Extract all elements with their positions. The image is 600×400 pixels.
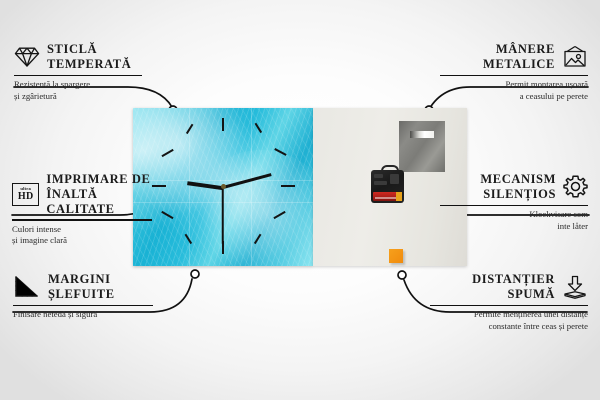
callout-metal-handles: MÂNERE METALICE Permit montarea ușoară a… xyxy=(440,42,588,102)
callout-sub-line2: inte låter xyxy=(440,221,588,233)
callout-title-line1: MÂNERE xyxy=(483,42,555,57)
callout-title-line1: MECANISM xyxy=(480,172,556,187)
movement-detail-1 xyxy=(374,174,383,178)
wire-dot-polished-edges xyxy=(191,270,199,278)
diamond-icon xyxy=(14,46,40,68)
clock-tick-3 xyxy=(281,185,295,187)
callout-title-line1: IMPRIMARE DE xyxy=(46,172,162,187)
press-down-icon xyxy=(562,275,588,299)
callout-silent-mechanism: MECANISM SILENȚIOS Klockvisare som inte … xyxy=(440,172,588,232)
callout-sub-line2: și zgârietură xyxy=(14,91,154,103)
callout-title-line2: SILENȚIOS xyxy=(480,187,556,202)
movement-detail-2 xyxy=(374,181,387,185)
glass-reflection-v2 xyxy=(251,108,252,266)
callout-title-line1: DISTANȚIER xyxy=(472,272,555,287)
callout-title-line1: STICLĂ xyxy=(47,42,131,57)
ultra-hd-label: HD xyxy=(18,192,34,202)
ultra-hd-icon: ultra HD xyxy=(12,183,39,206)
callout-title-line2: METALICE xyxy=(483,57,555,72)
callout-title-line1: MARGINI xyxy=(48,272,115,287)
callout-polished-edges: MARGINI ȘLEFUITE Finisare netedă și sigu… xyxy=(13,272,163,321)
callout-title-line2: SPUMĂ xyxy=(472,287,555,302)
foam-spacer xyxy=(389,249,403,263)
callout-sub-line2: constante între ceas și perete xyxy=(430,321,588,333)
callout-hq-print: ultra HD IMPRIMARE DE ÎNALTĂ CALITATE Cu… xyxy=(12,172,162,247)
callout-sub-line1: Rezistentă la spargere xyxy=(14,79,154,91)
callout-sub-line1: Permite menținerea unei distanțe xyxy=(430,309,588,321)
infographic-canvas: STICLĂ TEMPERATĂ Rezistentă la spargere … xyxy=(0,0,600,400)
movement-detail-3 xyxy=(390,174,399,184)
callout-rule xyxy=(14,75,142,77)
gear-icon xyxy=(563,174,588,199)
metal-hanger-plate xyxy=(399,121,445,172)
callout-sub-line2: a ceasului pe perete xyxy=(440,91,588,103)
callout-rule xyxy=(12,219,152,221)
picture-hanger-icon xyxy=(562,45,588,68)
battery-label xyxy=(375,197,396,199)
callout-title-line2: ÎNALTĂ CALITATE xyxy=(46,187,162,217)
callout-rule xyxy=(430,305,588,307)
callout-rule xyxy=(440,205,588,207)
callout-sub-line1: Culori intense xyxy=(12,224,162,236)
clock-second-hand xyxy=(222,187,224,244)
callout-title-line2: ȘLEFUITE xyxy=(48,287,115,302)
clock-center-cap xyxy=(221,184,226,189)
wire-dot-foam-spacer xyxy=(398,271,406,279)
callout-sub-line1: Klockvisare som xyxy=(440,209,588,221)
callout-sub-line1: Finisare netedă și sigură xyxy=(13,309,163,321)
battery-plus-terminal xyxy=(396,192,402,201)
polished-edge-icon xyxy=(13,275,41,299)
callout-sub-line1: Permit montarea ușoară xyxy=(440,79,588,91)
callout-title-line2: TEMPERATĂ xyxy=(47,57,131,72)
hanger-slot xyxy=(410,131,434,138)
clock-tick-12 xyxy=(222,118,224,131)
callout-rule xyxy=(440,75,588,77)
callout-tempered-glass: STICLĂ TEMPERATĂ Rezistentă la spargere … xyxy=(14,42,154,102)
callout-foam-spacer: DISTANȚIER SPUMĂ Permite menținerea unei… xyxy=(430,272,588,332)
callout-sub-line2: și imagine clară xyxy=(12,235,162,247)
callout-rule xyxy=(13,305,153,307)
